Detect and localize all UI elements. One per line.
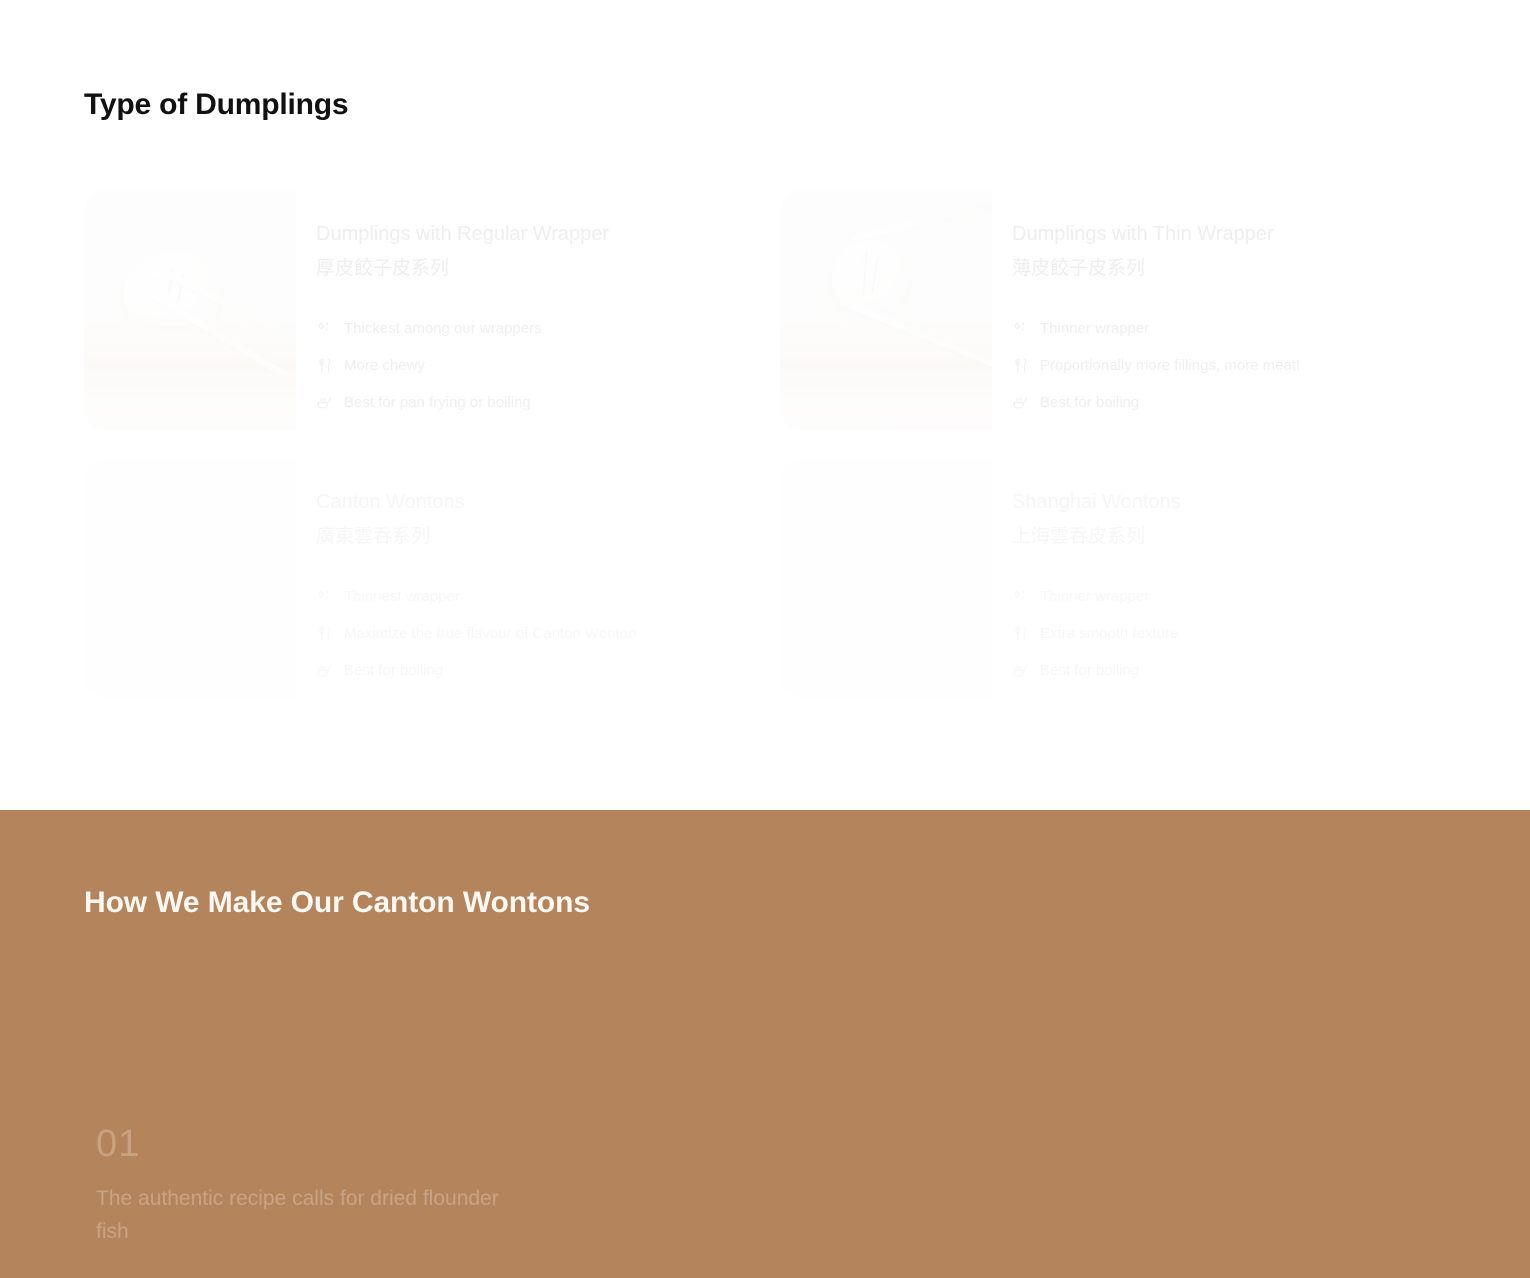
- sparkle-icon: [1012, 320, 1040, 337]
- card-feature-list: Thickest among our wrappers: [316, 310, 724, 421]
- feature-item: Best for boiling: [316, 652, 724, 689]
- dumpling-card[interactable]: Dumplings with Thin Wrapper 薄皮餃子皮系列: [780, 190, 1446, 430]
- feature-item: Best for pan frying or boiling: [316, 384, 724, 421]
- card-body: Canton Wontons 廣東雲吞系列 Thinnest: [296, 458, 750, 698]
- feature-text: Thickest among our wrappers: [344, 320, 542, 337]
- feature-text: More chewy: [344, 357, 425, 374]
- dumpling-card[interactable]: Dumplings with Regular Wrapper 厚皮餃子皮系列: [84, 190, 750, 430]
- card-feature-list: Thinner wrapper Prop: [1012, 310, 1420, 421]
- feature-text: Best for pan frying or boiling: [344, 394, 531, 411]
- dumpling-card[interactable]: Shanghai Wontons 上海雲吞皮系列 Thinne: [780, 458, 1446, 698]
- card-body: Dumplings with Regular Wrapper 厚皮餃子皮系列: [296, 190, 750, 430]
- feature-item: Thinner wrapper: [1012, 578, 1420, 615]
- feature-item: Thinnest wrapper: [316, 578, 724, 615]
- dumpling-card[interactable]: Canton Wontons 廣東雲吞系列 Thinnest: [84, 458, 750, 698]
- card-body: Shanghai Wontons 上海雲吞皮系列 Thinne: [992, 458, 1446, 698]
- feature-text: Thinner wrapper: [1040, 320, 1149, 337]
- fork-knife-icon: [316, 625, 344, 642]
- card-title-en: Dumplings with Regular Wrapper: [316, 222, 724, 247]
- feature-item: Extra smooth texture: [1012, 615, 1420, 652]
- cooking-pot-icon: [316, 662, 344, 679]
- step-number: 01: [96, 1125, 516, 1163]
- feature-text: Maximize the true flavour of Canton Wont…: [344, 625, 636, 642]
- card-photo: [780, 458, 992, 698]
- feature-item: Thickest among our wrappers: [316, 310, 724, 347]
- card-body: Dumplings with Thin Wrapper 薄皮餃子皮系列: [992, 190, 1446, 430]
- process-step-overflow: [96, 1268, 736, 1278]
- fork-knife-icon: [316, 357, 344, 374]
- feature-item: More chewy: [316, 347, 724, 384]
- process-title: How We Make Our Canton Wontons: [84, 886, 590, 920]
- card-feature-list: Thinnest wrapper Max: [316, 578, 724, 689]
- card-photo: [780, 190, 992, 430]
- card-title-en: Shanghai Wontons: [1012, 490, 1420, 515]
- card-title-zh: 厚皮餃子皮系列: [316, 257, 724, 282]
- feature-item: Proportionally more fillings, more meat!: [1012, 347, 1420, 384]
- cooking-pot-icon: [1012, 394, 1040, 411]
- card-title-zh: 薄皮餃子皮系列: [1012, 257, 1420, 282]
- feature-item: Best for boiling: [1012, 652, 1420, 689]
- card-title-en: Dumplings with Thin Wrapper: [1012, 222, 1420, 247]
- cooking-pot-icon: [316, 394, 344, 411]
- feature-text: Best for boiling: [344, 662, 443, 679]
- step-text: The authentic recipe calls for dried flo…: [96, 1183, 516, 1248]
- card-title-en: Canton Wontons: [316, 490, 724, 515]
- card-photo: [84, 190, 296, 430]
- cooking-pot-icon: [1012, 662, 1040, 679]
- dumplings-section: Type of Dumplings Dumplings with Regular…: [0, 0, 1530, 810]
- dumpling-card-grid: Dumplings with Regular Wrapper 厚皮餃子皮系列: [84, 190, 1446, 698]
- card-photo: [84, 458, 296, 698]
- card-title-zh: 廣東雲吞系列: [316, 525, 724, 550]
- process-step: 01 The authentic recipe calls for dried …: [96, 1125, 516, 1248]
- page-root: Type of Dumplings Dumplings with Regular…: [0, 0, 1530, 1278]
- feature-text: Best for boiling: [1040, 394, 1139, 411]
- feature-item: Thinner wrapper: [1012, 310, 1420, 347]
- feature-text: Proportionally more fillings, more meat!: [1040, 357, 1300, 374]
- feature-text: Thinner wrapper: [1040, 588, 1149, 605]
- feature-item: Best for boiling: [1012, 384, 1420, 421]
- sparkle-icon: [316, 320, 344, 337]
- feature-item: Maximize the true flavour of Canton Wont…: [316, 615, 724, 652]
- card-title-zh: 上海雲吞皮系列: [1012, 525, 1420, 550]
- fork-knife-icon: [1012, 357, 1040, 374]
- feature-text: Best for boiling: [1040, 662, 1139, 679]
- sparkle-icon: [316, 588, 344, 605]
- card-feature-list: Thinner wrapper Extr: [1012, 578, 1420, 689]
- process-section: How We Make Our Canton Wontons 01 The au…: [0, 810, 1530, 1278]
- feature-text: Thinnest wrapper: [344, 588, 460, 605]
- sparkle-icon: [1012, 588, 1040, 605]
- feature-text: Extra smooth texture: [1040, 625, 1178, 642]
- page-title: Type of Dumplings: [84, 88, 348, 122]
- fork-knife-icon: [1012, 625, 1040, 642]
